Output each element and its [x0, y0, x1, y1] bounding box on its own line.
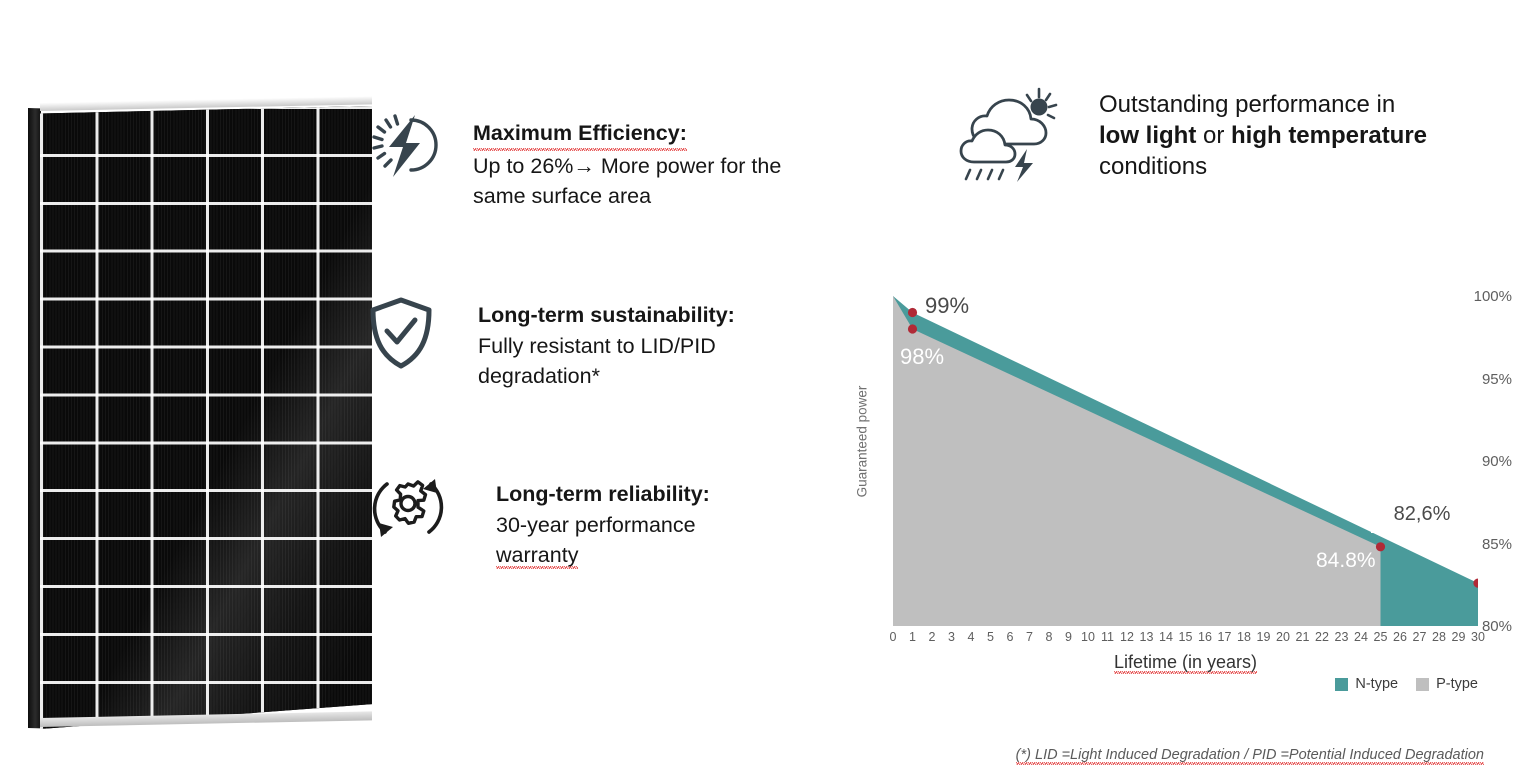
- chart-legend: N-type P-type: [893, 676, 1478, 692]
- x-axis-tick-labels: 0123456789101112131415161718192021222324…: [893, 630, 1478, 648]
- footnote: (*) LID =Light Induced Degradation / PID…: [1016, 747, 1484, 763]
- legend-item-n-type: N-type: [1335, 676, 1398, 692]
- x-axis-tick: 0: [890, 630, 897, 644]
- x-axis-tick: 25: [1374, 630, 1388, 644]
- x-axis-tick: 9: [1065, 630, 1072, 644]
- legend-label: P-type: [1436, 676, 1478, 692]
- feature-body-line-2: degradation*: [478, 364, 600, 388]
- x-axis-tick: 18: [1237, 630, 1251, 644]
- weather-line-3: conditions: [1099, 153, 1207, 180]
- footnote-text: (*) LID =Light Induced Degradation / PID…: [1016, 747, 1484, 765]
- x-axis-tick: 7: [1026, 630, 1033, 644]
- x-axis-tick: 29: [1452, 630, 1466, 644]
- panel-frame-edge: [28, 108, 41, 728]
- x-axis-title-text: Lifetime (in years): [1114, 652, 1257, 674]
- x-axis-tick: 16: [1198, 630, 1212, 644]
- cloud-sun-rain-lightning-icon: [955, 86, 1063, 189]
- data-label-99: 99%: [925, 293, 969, 319]
- weather-line-1: Outstanding performance in: [1099, 91, 1395, 118]
- weather-bold-high-temperature: high temperature: [1231, 122, 1427, 149]
- feature-title: Long-term sustainability:: [478, 300, 735, 331]
- x-axis-tick: 28: [1432, 630, 1446, 644]
- lightning-bolt-icon: [365, 107, 441, 188]
- data-point-marker: [1376, 542, 1385, 551]
- x-axis-tick: 24: [1354, 630, 1368, 644]
- x-axis-tick: 21: [1296, 630, 1310, 644]
- shield-check-icon: [368, 295, 434, 376]
- gear-refresh-icon: [365, 465, 451, 556]
- legend-item-p-type: P-type: [1416, 676, 1478, 692]
- feature-text: Long-term sustainability: Fully resistan…: [478, 300, 768, 392]
- feature-long-term-reliability: Long-term reliability: 30-year performan…: [365, 465, 756, 571]
- feature-body-line-2: warranty: [496, 543, 578, 569]
- x-axis-tick: 20: [1276, 630, 1290, 644]
- feature-long-term-sustainability: Long-term sustainability: Fully resistan…: [368, 295, 768, 392]
- feature-title: Maximum Efficiency:: [473, 118, 687, 151]
- x-axis-tick: 13: [1140, 630, 1154, 644]
- x-axis-tick: 14: [1159, 630, 1173, 644]
- feature-body-line-2: same surface area: [473, 184, 651, 208]
- data-label-84-8: 84.8%: [1316, 549, 1376, 573]
- weather-connector: or: [1196, 122, 1231, 149]
- x-axis-tick: 10: [1081, 630, 1095, 644]
- panel-cell-grid: [40, 106, 372, 729]
- x-axis-tick: 27: [1413, 630, 1427, 644]
- feature-body-line-1: 30-year performance: [496, 513, 696, 537]
- legend-swatch-p-type: [1416, 678, 1429, 691]
- x-axis-tick: 6: [1007, 630, 1014, 644]
- x-axis-tick: 15: [1179, 630, 1193, 644]
- x-axis-tick: 4: [968, 630, 975, 644]
- y-axis-title: Guaranteed power: [854, 386, 869, 498]
- x-axis-tick: 12: [1120, 630, 1134, 644]
- data-label-98: 98%: [900, 344, 944, 370]
- weather-text: Outstanding performance in low light or …: [1099, 89, 1459, 182]
- weather-bold-low-light: low light: [1099, 122, 1196, 149]
- feature-title: Long-term reliability:: [496, 479, 710, 510]
- data-point-marker: [908, 324, 917, 333]
- solar-panel-image: [14, 50, 364, 685]
- feature-text: Maximum Efficiency: Up to 26%→ More powe…: [473, 118, 843, 212]
- weather-performance-block: Outstanding performance in low light or …: [955, 86, 1459, 189]
- panel-cell-face: [40, 106, 372, 729]
- feature-maximum-efficiency: Maximum Efficiency: Up to 26%→ More powe…: [365, 107, 843, 212]
- x-axis-tick: 11: [1101, 630, 1114, 644]
- x-axis-tick: 8: [1046, 630, 1053, 644]
- feature-body-line-1: Fully resistant to LID/PID: [478, 334, 716, 358]
- data-point-marker: [908, 308, 917, 317]
- feature-text: Long-term reliability: 30-year performan…: [496, 479, 756, 571]
- slide-canvas: Maximum Efficiency: Up to 26%→ More powe…: [0, 0, 1522, 775]
- x-axis-tick: 3: [948, 630, 955, 644]
- x-axis-tick: 22: [1315, 630, 1329, 644]
- x-axis-title: Lifetime (in years): [893, 652, 1478, 673]
- chart-plot-area: [893, 296, 1478, 626]
- x-axis-tick: 2: [929, 630, 936, 644]
- data-callout-82-6: 82,6%: [1371, 496, 1473, 533]
- x-axis-tick: 23: [1335, 630, 1349, 644]
- feature-body-line-1: Up to 26%→ More power for the: [473, 154, 781, 178]
- x-axis-tick: 26: [1393, 630, 1407, 644]
- x-axis-tick: 5: [987, 630, 994, 644]
- x-axis-tick: 17: [1218, 630, 1232, 644]
- legend-label: N-type: [1355, 676, 1398, 692]
- legend-swatch-n-type: [1335, 678, 1348, 691]
- x-axis-tick: 19: [1257, 630, 1271, 644]
- x-axis-tick: 30: [1471, 630, 1485, 644]
- x-axis-tick: 1: [909, 630, 916, 644]
